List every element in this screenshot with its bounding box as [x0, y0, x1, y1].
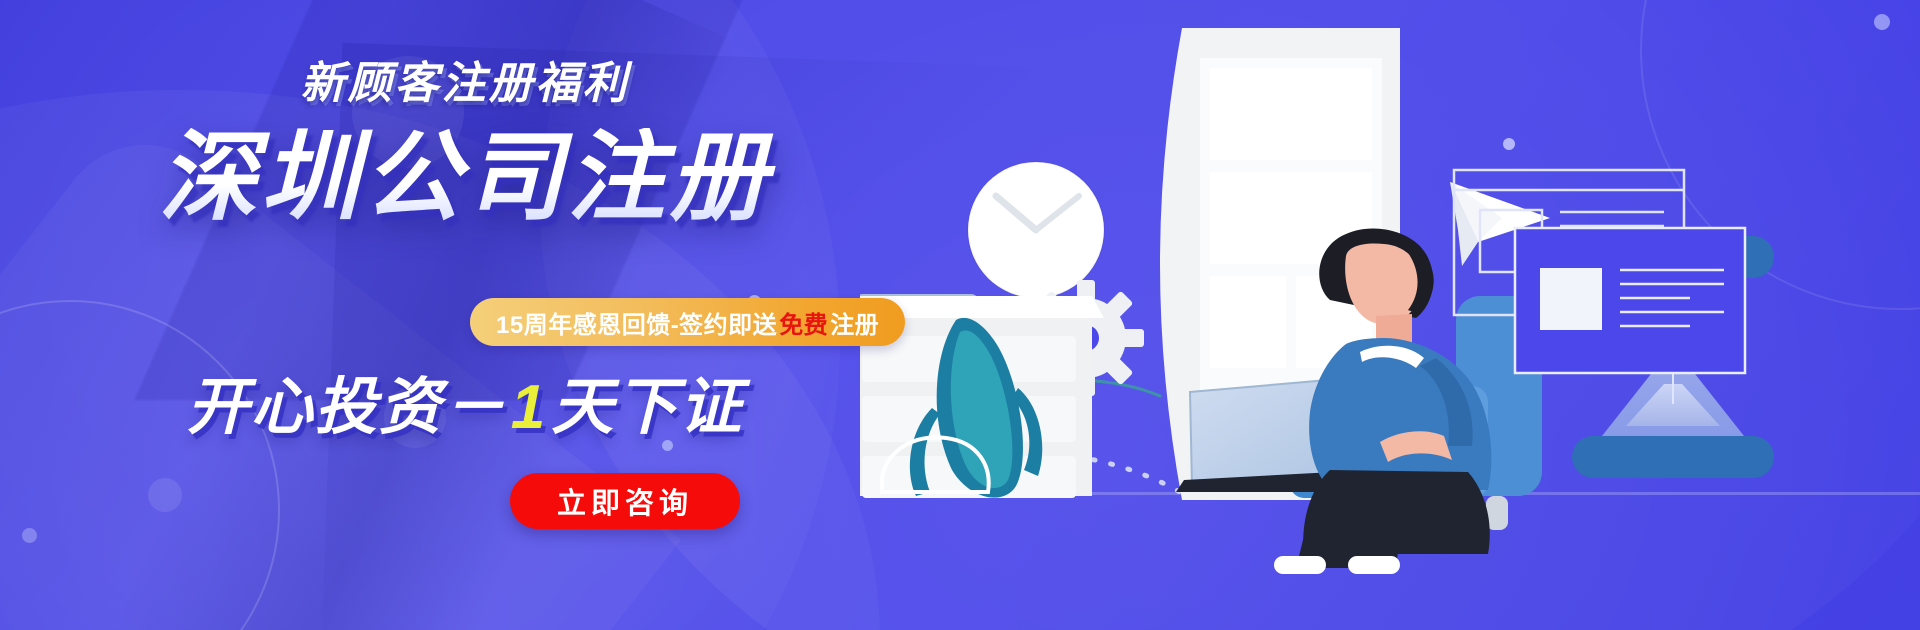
wall-clock-icon: [968, 162, 1104, 298]
badge-emphasis: 免费: [777, 305, 830, 340]
consult-now-button[interactable]: 立即咨询: [510, 473, 740, 529]
tagline-number: 1: [507, 373, 551, 442]
illustration: [860, 0, 1920, 630]
badge-suffix: 注册: [830, 305, 879, 340]
badge-prefix: 15周年感恩回馈-签约即送: [496, 305, 777, 340]
promo-badge: 15周年感恩回馈-签约即送免费注册: [470, 298, 905, 346]
eyebrow-text: 新顾客注册福利: [0, 62, 930, 106]
tagline-after: 天下证: [551, 373, 743, 442]
tagline-before: 开心投资－: [187, 373, 507, 442]
tagline: 开心投资－1天下证: [0, 377, 930, 439]
copy-block: 新顾客注册福利 深圳公司注册 15周年感恩回馈-签约即送免费注册 开心投资－1天…: [0, 0, 960, 630]
page-title: 深圳公司注册: [0, 128, 930, 226]
document-card-front: [1515, 228, 1745, 373]
promo-banner: 新顾客注册福利 深圳公司注册 15周年感恩回馈-签约即送免费注册 开心投资－1天…: [0, 0, 1920, 630]
